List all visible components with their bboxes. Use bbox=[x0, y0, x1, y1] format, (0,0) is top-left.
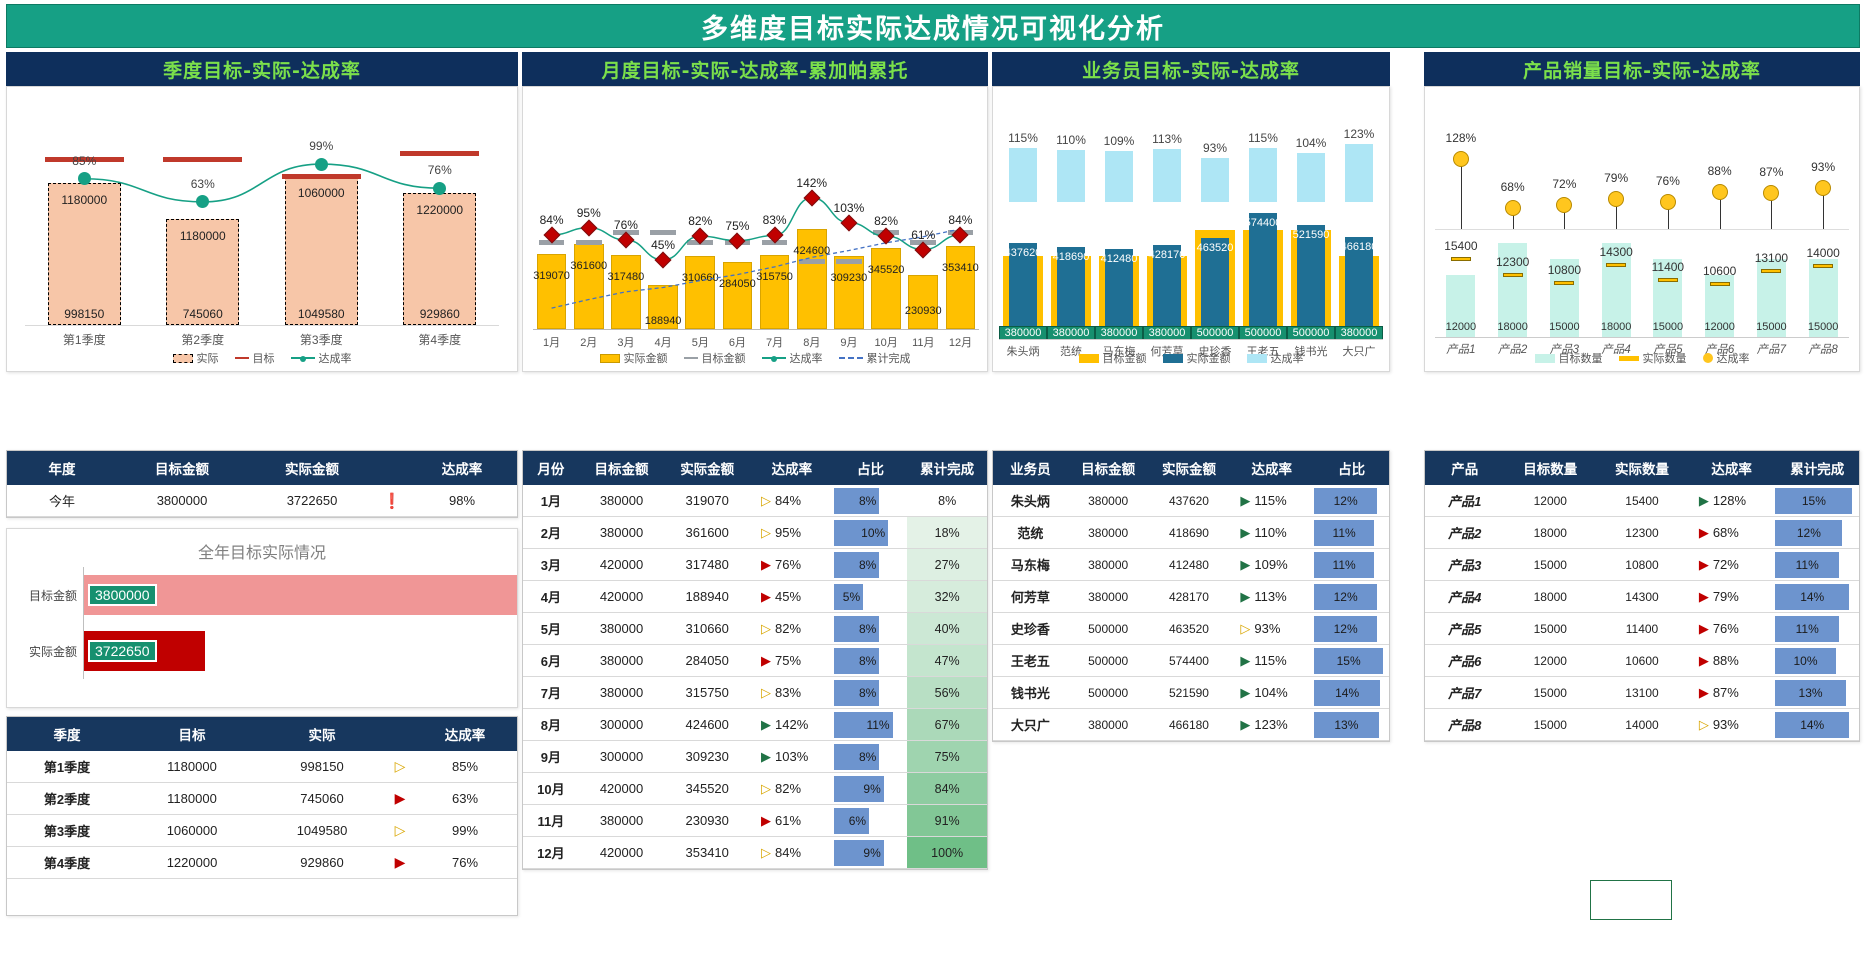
rate-value: 72% bbox=[1713, 557, 1739, 572]
quarter-axis-labels: 第1季度第2季度第3季度第4季度 bbox=[25, 331, 499, 348]
quarter-rate-dot bbox=[433, 182, 446, 195]
quarter-rate-cell: 63% bbox=[413, 783, 517, 815]
month-name-cell: 9月 bbox=[523, 741, 579, 773]
table-row[interactable]: 产品21800012300▶68%12% bbox=[1425, 517, 1859, 549]
product-actual-cell: 13100 bbox=[1596, 677, 1688, 709]
quarter-actual-cell: 745060 bbox=[257, 783, 387, 815]
rate-flag-icon: ▷ bbox=[760, 493, 771, 509]
sales-share-cell: 12% bbox=[1314, 581, 1389, 613]
product-rate-label: 72% bbox=[1540, 177, 1588, 191]
table-row[interactable]: 5月380000310660▷82%8%40% bbox=[523, 613, 987, 645]
month-share-cell: 8% bbox=[834, 741, 908, 773]
month-rate-cell: ▶45% bbox=[750, 581, 834, 613]
product-rate-cell: ▶72% bbox=[1688, 549, 1776, 581]
rate-swatch-icon bbox=[1703, 353, 1713, 363]
product-actual-cell: 14300 bbox=[1596, 581, 1688, 613]
share-databar: 12% bbox=[1314, 584, 1377, 610]
rate-flag-icon: ▶ bbox=[1698, 493, 1709, 509]
product-chart-legend: 目标数量 实际数量 达成率 bbox=[1425, 349, 1859, 367]
product-chart-area[interactable]: 1200015400128%180001230068%150001080072%… bbox=[1424, 86, 1860, 372]
legend-item-actual: 实际 bbox=[173, 350, 219, 366]
table-row[interactable]: 4月420000188940▶45%5%32% bbox=[523, 581, 987, 613]
sales-actual-value: 463520 bbox=[1191, 242, 1239, 254]
rate-flag-icon: ▶ bbox=[1698, 589, 1709, 605]
product-cumulative-cell: 15% bbox=[1775, 485, 1859, 517]
table-row[interactable]: 大只广380000466180▶123%13% bbox=[993, 709, 1389, 741]
column-header: 月份 bbox=[523, 451, 579, 485]
table-row[interactable]: 第2季度1180000745060▶63% bbox=[7, 783, 517, 815]
axis-tick-label: 5月 bbox=[682, 334, 719, 350]
table-row[interactable]: 王老五500000574400▶115%15% bbox=[993, 645, 1389, 677]
product-target-value: 15000 bbox=[1747, 321, 1795, 333]
axis-tick-label: 11月 bbox=[905, 334, 942, 350]
month-target-marker bbox=[650, 230, 676, 235]
sales-actual-cell: 463520 bbox=[1149, 613, 1230, 645]
table-row[interactable]: 马东梅380000412480▶109%11% bbox=[993, 549, 1389, 581]
product-actual-value: 15400 bbox=[1433, 239, 1489, 253]
quarter-actual-cell: 929860 bbox=[257, 847, 387, 879]
axis-tick-label: 第4季度 bbox=[381, 331, 500, 348]
month-rate-label: 142% bbox=[790, 176, 834, 190]
table-row[interactable]: 产品31500010800▶72%11% bbox=[1425, 549, 1859, 581]
dashboard-title-banner: 多维度目标实际达成情况可视化分析 bbox=[6, 4, 1860, 48]
product-rate-stem bbox=[1461, 159, 1462, 229]
sales-rate-cell: ▶123% bbox=[1229, 709, 1314, 741]
sales-share-cell: 13% bbox=[1314, 709, 1389, 741]
column-header: 累计完成 bbox=[907, 451, 987, 485]
column-header: 业务员 bbox=[993, 451, 1068, 485]
rate-flag-icon: ▶ bbox=[1239, 525, 1250, 541]
quarter-actual-cell: 998150 bbox=[257, 751, 387, 783]
column-header: 目标金额 bbox=[1068, 451, 1149, 485]
month-actual-value: 345520 bbox=[864, 264, 908, 276]
rate-flag-icon: ▷ bbox=[1698, 717, 1709, 733]
month-chart-area[interactable]: 3190703616003174801889403106602840503157… bbox=[522, 86, 988, 372]
table-row-spacer bbox=[7, 879, 517, 915]
product-actual-marker bbox=[1606, 263, 1626, 267]
rate-value: 45% bbox=[775, 589, 801, 604]
quarter-flag-icon: ▷ bbox=[387, 815, 413, 847]
month-actual-cell: 345520 bbox=[664, 773, 750, 805]
legend-label: 达成率 bbox=[790, 350, 823, 366]
product-actual-value: 10800 bbox=[1536, 263, 1592, 277]
rate-value: 109% bbox=[1254, 557, 1287, 572]
cumulative-databar: 11% bbox=[1775, 552, 1839, 578]
legend-label: 目标数量 bbox=[1559, 350, 1603, 366]
sales-rate-cell: ▶113% bbox=[1229, 581, 1314, 613]
sales-actual-cell: 437620 bbox=[1149, 485, 1230, 517]
product-target-value: 15000 bbox=[1644, 321, 1692, 333]
share-databar: 9% bbox=[834, 776, 884, 802]
rate-value: 142% bbox=[775, 717, 808, 732]
month-rate-diamond bbox=[580, 219, 597, 236]
axis-tick-label: 第3季度 bbox=[262, 331, 381, 348]
legend-item-rate: 达成率 bbox=[1703, 350, 1750, 366]
month-rate-label: 84% bbox=[938, 213, 982, 227]
rate-value: 93% bbox=[1713, 717, 1739, 732]
dashboard-page: 多维度目标实际达成情况可视化分析 季度目标-实际-达成率 11800009981… bbox=[0, 0, 1866, 962]
product-rate-cell: ▶128% bbox=[1688, 485, 1776, 517]
month-rate-cell: ▶142% bbox=[750, 709, 834, 741]
month-rate-cell: ▶103% bbox=[750, 741, 834, 773]
month-rate-label: 45% bbox=[641, 238, 685, 252]
table-row[interactable]: 8月300000424600▶142%11%67% bbox=[523, 709, 987, 741]
month-actual-cell: 310660 bbox=[664, 613, 750, 645]
sales-rate-label: 93% bbox=[1191, 141, 1239, 155]
table-row[interactable]: 产品41800014300▶79%14% bbox=[1425, 581, 1859, 613]
month-cumulative-cell: 32% bbox=[907, 581, 987, 613]
month-rate-diamond bbox=[655, 251, 672, 268]
quarter-rate-label: 76% bbox=[415, 163, 465, 177]
table-row[interactable]: 12月420000353410▷84%9%100% bbox=[523, 837, 987, 869]
month-share-cell: 9% bbox=[834, 773, 908, 805]
table-row[interactable]: 9月300000309230▶103%8%75% bbox=[523, 741, 987, 773]
month-rate-cell: ▶61% bbox=[750, 805, 834, 837]
sales-rate-label: 123% bbox=[1335, 127, 1383, 141]
quarter-rate-cell: 76% bbox=[413, 847, 517, 879]
rate-flag-icon: ▶ bbox=[1698, 621, 1709, 637]
legend-item-actual-qty: 实际数量 bbox=[1619, 350, 1687, 366]
rate-value: 82% bbox=[775, 621, 801, 636]
table-row[interactable]: 产品81500014000▷93%14% bbox=[1425, 709, 1859, 741]
sales-name-cell: 王老五 bbox=[993, 645, 1068, 677]
axis-tick-label: 7月 bbox=[756, 334, 793, 350]
table-row[interactable]: 7月380000315750▷83%8%56% bbox=[523, 677, 987, 709]
table-row[interactable]: 产品11200015400▶128%15% bbox=[1425, 485, 1859, 517]
month-target-cell: 380000 bbox=[579, 645, 665, 677]
share-databar: 8% bbox=[834, 744, 880, 770]
rate-value: 123% bbox=[1254, 717, 1287, 732]
share-databar: 12% bbox=[1314, 616, 1377, 642]
sales-rate-bar bbox=[1009, 148, 1038, 202]
product-cumulative-cell: 11% bbox=[1775, 549, 1859, 581]
share-databar: 14% bbox=[1314, 680, 1380, 706]
month-share-cell: 8% bbox=[834, 677, 908, 709]
rate-value: 76% bbox=[775, 557, 801, 572]
share-databar: 5% bbox=[834, 584, 863, 610]
table-row[interactable]: 产品61200010600▶88%10% bbox=[1425, 645, 1859, 677]
product-cumulative-cell: 12% bbox=[1775, 517, 1859, 549]
rate-flag-icon: ▶ bbox=[1698, 557, 1709, 573]
month-cumulative-cell: 56% bbox=[907, 677, 987, 709]
table-row[interactable]: 何芳草380000428170▶113%12% bbox=[993, 581, 1389, 613]
selected-cell-outline[interactable] bbox=[1590, 880, 1672, 920]
sales-actual-cell: 412480 bbox=[1149, 549, 1230, 581]
rate-value: 115% bbox=[1254, 493, 1286, 508]
sales-actual-bar bbox=[1249, 213, 1278, 339]
sales-actual-value: 418690 bbox=[1047, 251, 1095, 263]
rate-value: 84% bbox=[775, 493, 801, 508]
quarter-target-marker bbox=[400, 151, 479, 156]
cumulative-databar: 11% bbox=[1775, 616, 1839, 642]
month-name-cell: 11月 bbox=[523, 805, 579, 837]
rate-value: 87% bbox=[1713, 685, 1739, 700]
month-actual-cell: 188940 bbox=[664, 581, 750, 613]
sales-rate-bar bbox=[1105, 151, 1134, 202]
sales-name-cell: 钱书光 bbox=[993, 677, 1068, 709]
cumulative-databar: 14% bbox=[1775, 584, 1849, 610]
month-actual-bar bbox=[834, 256, 864, 329]
target-swatch-icon bbox=[235, 357, 249, 359]
bullet-value-tag: 3722650 bbox=[88, 640, 157, 662]
column-header: 实际金额 bbox=[247, 451, 377, 485]
month-rate-cell: ▷82% bbox=[750, 773, 834, 805]
cumulative-databar: 10% bbox=[1775, 648, 1835, 674]
table-row[interactable]: 范统380000418690▶110%11% bbox=[993, 517, 1389, 549]
sales-actual-value: 437620 bbox=[999, 247, 1047, 259]
month-name-cell: 5月 bbox=[523, 613, 579, 645]
table-header-row: 季度目标实际达成率 bbox=[7, 717, 517, 751]
quarter-chart-panel: 季度目标-实际-达成率 1180000998150118000074506010… bbox=[6, 52, 518, 372]
share-databar: 8% bbox=[834, 488, 880, 514]
product-target-value: 15000 bbox=[1799, 321, 1847, 333]
product-rate-label: 88% bbox=[1696, 164, 1744, 178]
product-rate-cell: ▶68% bbox=[1688, 517, 1776, 549]
month-target-cell: 420000 bbox=[579, 837, 665, 869]
sales-target-cell: 380000 bbox=[1068, 517, 1149, 549]
share-databar: 6% bbox=[834, 808, 869, 834]
month-rate-cell: ▷82% bbox=[750, 613, 834, 645]
table-row[interactable]: 第3季度10600001049580▷99% bbox=[7, 815, 517, 847]
column-header: 实际金额 bbox=[664, 451, 750, 485]
quarter-chart-area[interactable]: 1180000998150118000074506010600001049580… bbox=[6, 86, 518, 372]
product-rate-label: 79% bbox=[1592, 171, 1640, 185]
sales-name-cell: 史珍香 bbox=[993, 613, 1068, 645]
rate-swatch-icon bbox=[291, 357, 315, 359]
product-actual-value: 13100 bbox=[1743, 251, 1799, 265]
sales-target-value: 500000 bbox=[1239, 326, 1287, 340]
sales-rate-label: 115% bbox=[1239, 131, 1287, 145]
month-target-cell: 420000 bbox=[579, 549, 665, 581]
column-header: 占比 bbox=[834, 451, 908, 485]
month-actual-value: 353410 bbox=[938, 262, 982, 274]
month-name-cell: 4月 bbox=[523, 581, 579, 613]
share-databar: 9% bbox=[834, 840, 884, 866]
month-rate-cell: ▶76% bbox=[750, 549, 834, 581]
product-name-cell: 产品8 bbox=[1425, 709, 1504, 741]
column-header: 产品 bbox=[1425, 451, 1504, 485]
rate-flag-icon: ▷ bbox=[760, 621, 771, 637]
rate-flag-icon: ▶ bbox=[1698, 653, 1709, 669]
rate-flag-icon: ▷ bbox=[760, 685, 771, 701]
month-actual-cell: 319070 bbox=[664, 485, 750, 517]
rate-flag-icon: ▷ bbox=[1239, 621, 1250, 637]
table-row[interactable]: 产品51500011400▶76%11% bbox=[1425, 613, 1859, 645]
column-header bbox=[387, 717, 413, 751]
month-name-cell: 2月 bbox=[523, 517, 579, 549]
rate-value: 68% bbox=[1713, 525, 1739, 540]
product-name-cell: 产品7 bbox=[1425, 677, 1504, 709]
legend-item-target-amount: 目标金额 bbox=[1079, 350, 1147, 366]
legend-label: 目标金额 bbox=[702, 350, 746, 366]
rate-flag-icon: ▶ bbox=[760, 557, 771, 573]
month-name-cell: 10月 bbox=[523, 773, 579, 805]
month-actual-bar bbox=[537, 254, 567, 329]
quarter-actual-value: 1049580 bbox=[281, 307, 361, 321]
sales-share-cell: 14% bbox=[1314, 677, 1389, 709]
quarter-rate-label: 63% bbox=[178, 177, 228, 191]
rate-axis-line bbox=[1435, 229, 1849, 230]
share-databar: 11% bbox=[834, 712, 893, 738]
sales-rate-bar bbox=[1249, 148, 1278, 202]
axis-tick-label: 3月 bbox=[607, 334, 644, 350]
table-row[interactable]: 产品71500013100▶87%13% bbox=[1425, 677, 1859, 709]
month-rate-label: 82% bbox=[864, 214, 908, 228]
product-target-cell: 15000 bbox=[1504, 549, 1596, 581]
quarter-actual-value: 998150 bbox=[44, 307, 124, 321]
sales-name-cell: 何芳草 bbox=[993, 581, 1068, 613]
sales-actual-value: 412480 bbox=[1095, 253, 1143, 265]
month-actual-bar bbox=[908, 275, 938, 329]
legend-label: 达成率 bbox=[1717, 350, 1750, 366]
month-name-cell: 3月 bbox=[523, 549, 579, 581]
table-header-row: 月份目标金额实际金额达成率占比累计完成 bbox=[523, 451, 987, 485]
month-actual-cell: 424600 bbox=[664, 709, 750, 741]
month-share-cell: 9% bbox=[834, 837, 908, 869]
table-row[interactable]: 1月380000319070▷84%8%8% bbox=[523, 485, 987, 517]
share-databar: 11% bbox=[1314, 520, 1374, 546]
bullet-label: 实际金额 bbox=[13, 643, 83, 660]
sales-target-value: 380000 bbox=[1095, 326, 1143, 340]
product-actual-marker bbox=[1503, 273, 1523, 277]
year-summary-table: 年度目标金额实际金额达成率 今年38000003722650❗98% bbox=[6, 450, 518, 518]
month-cumulative-cell: 75% bbox=[907, 741, 987, 773]
table-row[interactable]: 10月420000345520▷82%9%84% bbox=[523, 773, 987, 805]
share-databar: 11% bbox=[1314, 552, 1374, 578]
month-target-cell: 380000 bbox=[579, 677, 665, 709]
legend-item-rate: 达成率 bbox=[1247, 350, 1304, 366]
rate-flag-icon: ▶ bbox=[760, 749, 771, 765]
month-actual-bar bbox=[685, 256, 715, 329]
legend-label: 实际金额 bbox=[1187, 350, 1231, 366]
month-target-marker bbox=[576, 240, 602, 245]
table-row[interactable]: 6月380000284050▶75%8%47% bbox=[523, 645, 987, 677]
product-actual-cell: 15400 bbox=[1596, 485, 1688, 517]
sales-target-cell: 380000 bbox=[1068, 581, 1149, 613]
product-rate-ball bbox=[1660, 194, 1676, 210]
table-row[interactable]: 朱头炳380000437620▶115%12% bbox=[993, 485, 1389, 517]
sales-chart-legend: 目标金额 实际金额 达成率 bbox=[993, 349, 1389, 367]
sales-rate-label: 110% bbox=[1047, 133, 1095, 147]
month-rate-cell: ▷84% bbox=[750, 485, 834, 517]
sales-chart-title: 业务员目标-实际-达成率 bbox=[992, 52, 1390, 86]
rate-flag-icon: ▷ bbox=[760, 525, 771, 541]
product-actual-cell: 10800 bbox=[1596, 549, 1688, 581]
product-actual-value: 11400 bbox=[1640, 260, 1696, 274]
product-rate-cell: ▶88% bbox=[1688, 645, 1776, 677]
quarter-name-cell: 第1季度 bbox=[7, 751, 127, 783]
product-actual-cell: 10600 bbox=[1596, 645, 1688, 677]
sales-chart-area[interactable]: 437620380000115%418690380000110%41248038… bbox=[992, 86, 1390, 372]
table-row[interactable]: 第1季度1180000998150▷85% bbox=[7, 751, 517, 783]
month-share-cell: 10% bbox=[834, 517, 908, 549]
share-databar: 8% bbox=[834, 680, 880, 706]
year-rate-cell: 98% bbox=[407, 485, 517, 517]
target-amount-swatch-icon bbox=[1079, 354, 1099, 363]
rate-value: 88% bbox=[1713, 653, 1739, 668]
x-axis-line bbox=[1435, 337, 1849, 338]
month-target-cell: 380000 bbox=[579, 613, 665, 645]
table-row[interactable]: 3月420000317480▶76%8%27% bbox=[523, 549, 987, 581]
bullet-row: 目标金额3800000 bbox=[7, 567, 517, 623]
month-target-cell: 380000 bbox=[579, 485, 665, 517]
sales-actual-value: 521590 bbox=[1287, 229, 1335, 241]
month-rate-cell: ▷83% bbox=[750, 677, 834, 709]
column-header: 目标金额 bbox=[579, 451, 665, 485]
table-row[interactable]: 11月380000230930▶61%6%91% bbox=[523, 805, 987, 837]
sales-actual-value: 428170 bbox=[1143, 249, 1191, 261]
quarter-flag-icon: ▶ bbox=[387, 847, 413, 879]
rate-flag-icon: ▶ bbox=[1239, 653, 1250, 669]
column-header: 季度 bbox=[7, 717, 127, 751]
product-actual-marker bbox=[1554, 281, 1574, 285]
product-actual-cell: 12300 bbox=[1596, 517, 1688, 549]
table-row[interactable]: 钱书光500000521590▶104%14% bbox=[993, 677, 1389, 709]
table-row[interactable]: 史珍香500000463520▷93%12% bbox=[993, 613, 1389, 645]
legend-item-actual-amount: 实际金额 bbox=[1163, 350, 1231, 366]
column-header: 年度 bbox=[7, 451, 117, 485]
legend-item-actual-amount: 实际金额 bbox=[600, 350, 668, 366]
legend-label: 实际数量 bbox=[1643, 350, 1687, 366]
legend-label: 达成率 bbox=[1271, 350, 1304, 366]
axis-tick-label: 9月 bbox=[830, 334, 867, 350]
quarter-flag-icon: ▶ bbox=[387, 783, 413, 815]
month-share-cell: 5% bbox=[834, 581, 908, 613]
product-name-cell: 产品6 bbox=[1425, 645, 1504, 677]
sales-rate-label: 104% bbox=[1287, 136, 1335, 150]
product-rate-cell: ▶87% bbox=[1688, 677, 1776, 709]
month-actual-cell: 361600 bbox=[664, 517, 750, 549]
month-actual-value: 188940 bbox=[641, 315, 685, 327]
sales-rate-bar bbox=[1297, 153, 1326, 202]
table-row[interactable]: 今年38000003722650❗98% bbox=[7, 485, 517, 517]
rate-flag-icon: ▶ bbox=[760, 717, 771, 733]
month-rate-cell: ▷95% bbox=[750, 517, 834, 549]
month-target-cell: 380000 bbox=[579, 805, 665, 837]
quarter-name-cell: 第3季度 bbox=[7, 815, 127, 847]
quarter-rate-label: 85% bbox=[59, 154, 109, 168]
actual-qty-swatch-icon bbox=[1619, 356, 1639, 361]
month-target-cell: 420000 bbox=[579, 581, 665, 613]
product-rate-ball bbox=[1763, 185, 1779, 201]
sales-rate-cell: ▶109% bbox=[1229, 549, 1314, 581]
product-rate-ball bbox=[1556, 197, 1572, 213]
month-actual-value: 317480 bbox=[604, 271, 648, 283]
share-databar: 10% bbox=[834, 520, 888, 546]
table-row[interactable]: 2月380000361600▷95%10%18% bbox=[523, 517, 987, 549]
legend-label: 达成率 bbox=[319, 350, 352, 366]
sales-actual-cell: 521590 bbox=[1149, 677, 1230, 709]
share-databar: 15% bbox=[1314, 648, 1383, 674]
product-name-cell: 产品1 bbox=[1425, 485, 1504, 517]
quarter-target-cell: 1180000 bbox=[127, 783, 257, 815]
column-header: 达成率 bbox=[407, 451, 517, 485]
sales-target-value: 380000 bbox=[1047, 326, 1095, 340]
column-header: 实际数量 bbox=[1596, 451, 1688, 485]
table-row[interactable]: 第4季度1220000929860▶76% bbox=[7, 847, 517, 879]
table-header-row: 产品目标数量实际数量达成率累计完成 bbox=[1425, 451, 1859, 485]
sales-rate-label: 109% bbox=[1095, 134, 1143, 148]
year-target-cell: 3800000 bbox=[117, 485, 247, 517]
quarter-actual-value: 745060 bbox=[163, 307, 243, 321]
sales-target-cell: 500000 bbox=[1068, 613, 1149, 645]
month-rate-label: 103% bbox=[827, 201, 871, 215]
quarter-actual-cell: 1049580 bbox=[257, 815, 387, 847]
bullet-value-tag: 3800000 bbox=[88, 584, 157, 606]
product-rate-label: 76% bbox=[1644, 174, 1692, 188]
column-header: 达成率 bbox=[1229, 451, 1314, 485]
month-chart-panel: 月度目标-实际-达成率-累加帕累托 3190703616003174801889… bbox=[522, 52, 988, 372]
